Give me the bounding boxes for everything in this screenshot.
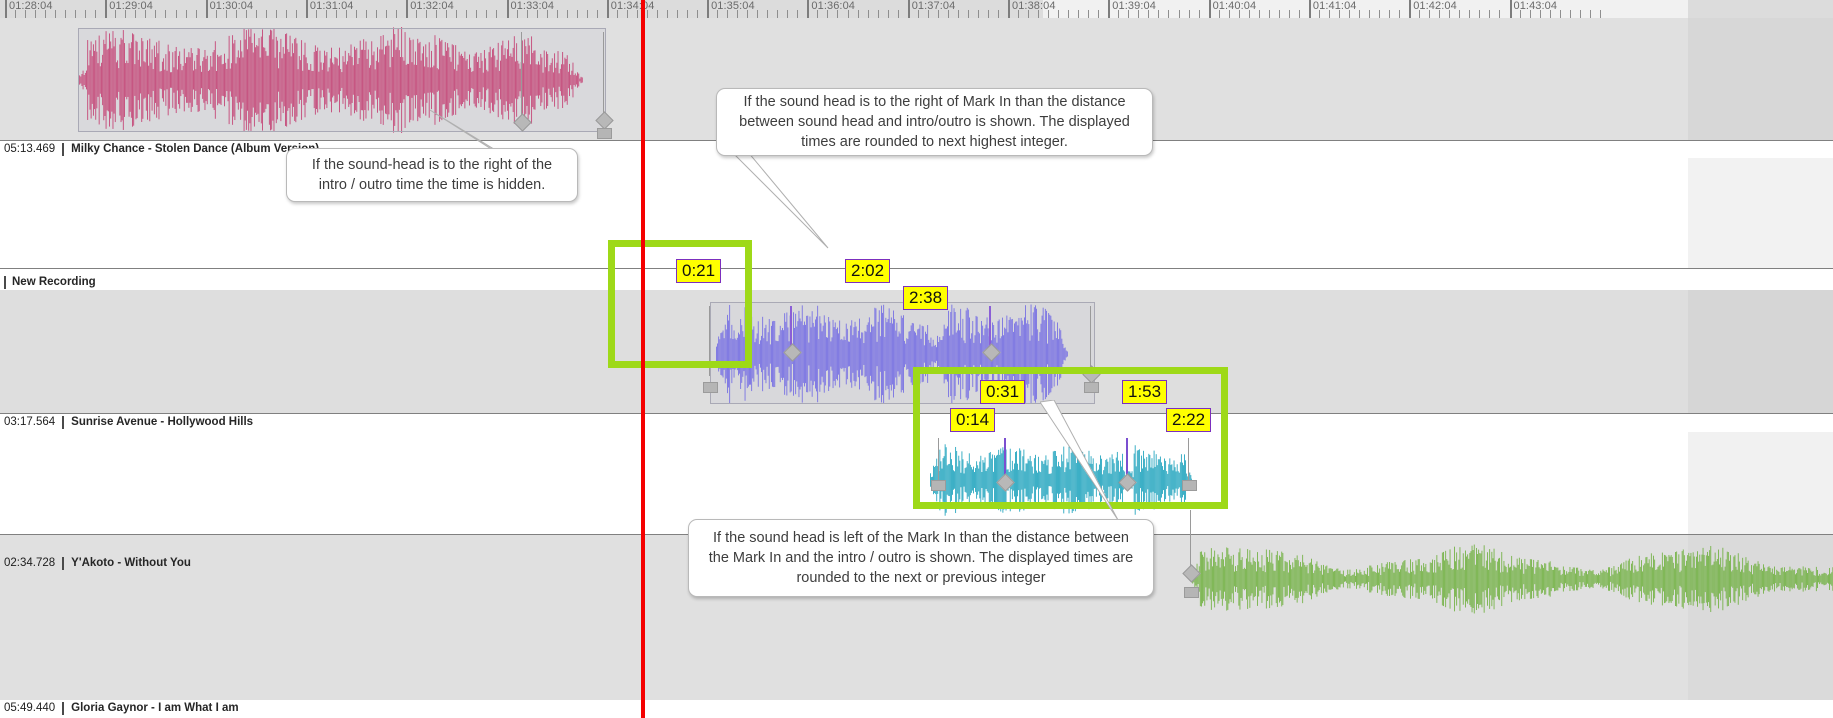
ruler-tick-minor bbox=[155, 10, 156, 18]
ruler-label: 01:43:04 bbox=[1514, 0, 1558, 12]
ruler-tick-major bbox=[707, 0, 709, 18]
timeline-ruler[interactable]: 01:28:0401:29:0401:30:0401:31:0401:32:04… bbox=[0, 0, 1833, 19]
ruler-tick-minor bbox=[1399, 10, 1400, 18]
ruler-tick-minor bbox=[1560, 10, 1561, 18]
ruler-label: 01:40:04 bbox=[1213, 0, 1257, 12]
time-badge-2-02[interactable]: 2:02 bbox=[845, 259, 890, 283]
time-badge-0-14[interactable]: 0:14 bbox=[950, 408, 995, 432]
ruler-tick-major bbox=[1209, 0, 1211, 18]
ruler-tick-major bbox=[206, 0, 208, 18]
ruler-tick-minor bbox=[1088, 10, 1089, 18]
ruler-tick-minor bbox=[767, 10, 768, 18]
ruler-tick-minor bbox=[787, 10, 788, 18]
outro-handle-stem-track1 bbox=[603, 32, 604, 120]
playhead[interactable] bbox=[641, 0, 645, 718]
ruler-tick-minor bbox=[587, 10, 588, 18]
ruler-tick-minor bbox=[797, 10, 798, 18]
ruler-tick-minor bbox=[276, 10, 277, 18]
track5-name: Gloria Gaynor - I am What I am bbox=[71, 702, 238, 714]
ruler-tick-minor bbox=[888, 10, 889, 18]
track4-right-shade bbox=[1688, 432, 1833, 534]
ruler-tick-minor bbox=[1158, 10, 1159, 18]
ruler-tick-minor bbox=[1469, 10, 1470, 18]
callout-pointer-2 bbox=[700, 140, 830, 250]
ruler-label: 01:33:04 bbox=[511, 0, 555, 12]
separator-2 bbox=[0, 268, 1833, 269]
ruler-tick-minor bbox=[777, 10, 778, 18]
ruler-tick-minor bbox=[356, 10, 357, 18]
ruler-tick-minor bbox=[1289, 10, 1290, 18]
ruler-tick-minor bbox=[1168, 10, 1169, 18]
ruler-tick-major bbox=[406, 0, 408, 18]
ruler-tick-minor bbox=[386, 10, 387, 18]
ruler-tick-major bbox=[1108, 0, 1110, 18]
track5-label-divider bbox=[62, 702, 64, 715]
ruler-tick-minor bbox=[1259, 10, 1260, 18]
ruler-tick-major bbox=[105, 0, 107, 18]
track-label-sunrise-avenue[interactable]: 03:17.564 Sunrise Avenue - Hollywood Hil… bbox=[4, 414, 253, 430]
track1-duration: 05:13.469 bbox=[4, 143, 62, 155]
ruler-tick-major bbox=[1309, 0, 1311, 18]
ruler-label: 01:34:04 bbox=[611, 0, 655, 12]
ruler-tick-minor bbox=[1189, 10, 1190, 18]
ruler-tick-minor bbox=[456, 10, 457, 18]
ruler-tick-major bbox=[807, 0, 809, 18]
ruler-tick-minor bbox=[1580, 10, 1581, 18]
ruler-tick-minor bbox=[376, 10, 377, 18]
ruler-tick-minor bbox=[466, 10, 467, 18]
track-new-recording[interactable] bbox=[0, 158, 1833, 268]
ruler-tick-minor bbox=[165, 10, 166, 18]
ruler-tick-minor bbox=[1389, 10, 1390, 18]
ruler-tick-major bbox=[908, 0, 910, 18]
ruler-tick-minor bbox=[1279, 10, 1280, 18]
ruler-tick-major bbox=[507, 0, 509, 18]
track2-label-divider bbox=[4, 276, 6, 289]
track1-name: Milky Chance - Stolen Dance (Album Versi… bbox=[71, 143, 319, 155]
time-badge-0-31[interactable]: 0:31 bbox=[980, 380, 1025, 404]
ruler-label: 01:38:04 bbox=[1012, 0, 1056, 12]
ruler-tick-minor bbox=[1299, 10, 1300, 18]
track2-right-shade bbox=[1688, 158, 1833, 268]
ruler-tick-minor bbox=[868, 10, 869, 18]
ruler-tick-minor bbox=[1379, 10, 1380, 18]
ruler-tick-minor bbox=[1570, 10, 1571, 18]
ruler-label: 01:35:04 bbox=[711, 0, 755, 12]
ruler-label: 01:28:04 bbox=[9, 0, 53, 12]
ruler-tick-minor bbox=[677, 10, 678, 18]
ruler-tick-minor bbox=[1068, 10, 1069, 18]
ruler-tick-minor bbox=[988, 10, 989, 18]
track-label-milky-chance[interactable]: 05:13.469 Milky Chance - Stolen Dance (A… bbox=[4, 141, 319, 157]
ruler-tick-minor bbox=[1098, 10, 1099, 18]
ruler-tick-minor bbox=[186, 10, 187, 18]
track-label-yakoto[interactable]: 02:34.728 Y'Akoto - Without You bbox=[4, 555, 191, 571]
ruler-tick-major bbox=[1510, 0, 1512, 18]
ruler-label: 01:29:04 bbox=[109, 0, 153, 12]
start-marker-track3[interactable] bbox=[703, 382, 718, 393]
ruler-tick-minor bbox=[85, 10, 86, 18]
track-label-new-recording[interactable]: New Recording bbox=[4, 274, 96, 290]
ruler-tick-minor bbox=[1499, 10, 1500, 18]
callout-soundhead-right-of-markin: If the sound head is to the right of Mar… bbox=[716, 88, 1153, 156]
ruler-tick-minor bbox=[296, 10, 297, 18]
callout-intro-outro-hidden: If the sound-head is to the right of the… bbox=[286, 148, 578, 202]
ruler-tick-minor bbox=[1479, 10, 1480, 18]
intro-handle-stem-track1 bbox=[521, 32, 522, 120]
ruler-tick-minor bbox=[878, 10, 879, 18]
callout-pointer-3 bbox=[1040, 400, 1200, 522]
ruler-tick-minor bbox=[1058, 10, 1059, 18]
track-label-gloria-gaynor[interactable]: 05:49.440 Gloria Gaynor - I am What I am bbox=[4, 700, 239, 716]
ruler-tick-minor bbox=[1179, 10, 1180, 18]
ruler-tick-minor bbox=[958, 10, 959, 18]
ruler-tick-minor bbox=[898, 10, 899, 18]
track4-name: Y'Akoto - Without You bbox=[71, 557, 191, 569]
ruler-tick-minor bbox=[597, 10, 598, 18]
ruler-label: 01:42:04 bbox=[1413, 0, 1457, 12]
track3-label-divider bbox=[62, 416, 64, 429]
ruler-shade-right bbox=[1688, 0, 1833, 18]
ruler-label: 01:41:04 bbox=[1313, 0, 1357, 12]
ruler-tick-minor bbox=[196, 10, 197, 18]
track3-duration: 03:17.564 bbox=[4, 416, 62, 428]
ruler-tick-minor bbox=[65, 10, 66, 18]
track1-right-shade bbox=[1688, 18, 1833, 140]
callout-soundhead-left-of-markin: If the sound head is left of the Mark In… bbox=[688, 519, 1154, 597]
ruler-tick-minor bbox=[687, 10, 688, 18]
time-badge-0-21[interactable]: 0:21 bbox=[676, 259, 721, 283]
ruler-tick-minor bbox=[266, 10, 267, 18]
ruler-label: 01:36:04 bbox=[811, 0, 855, 12]
track3-right-shade bbox=[1688, 290, 1833, 413]
ruler-tick-minor bbox=[858, 10, 859, 18]
ruler-label: 01:30:04 bbox=[210, 0, 254, 12]
ruler-tick-major bbox=[607, 0, 609, 18]
end-marker-track1[interactable] bbox=[597, 128, 612, 139]
ruler-tick-minor bbox=[968, 10, 969, 18]
ruler-tick-minor bbox=[1269, 10, 1270, 18]
track4-label-divider bbox=[62, 557, 64, 570]
ruler-tick-minor bbox=[757, 10, 758, 18]
ruler-tick-minor bbox=[1600, 10, 1601, 18]
track4-duration: 02:34.728 bbox=[4, 557, 62, 569]
ruler-tick-major bbox=[306, 0, 308, 18]
track1-label-divider bbox=[62, 143, 64, 156]
ruler-tick-minor bbox=[55, 10, 56, 18]
track2-lane bbox=[0, 158, 1833, 268]
ruler-tick-minor bbox=[396, 10, 397, 18]
ruler-tick-minor bbox=[366, 10, 367, 18]
ruler-tick-minor bbox=[1369, 10, 1370, 18]
ruler-tick-minor bbox=[697, 10, 698, 18]
track2-name: New Recording bbox=[12, 276, 96, 288]
ruler-tick-major bbox=[1409, 0, 1411, 18]
ruler-tick-minor bbox=[1199, 10, 1200, 18]
ruler-tick-minor bbox=[176, 10, 177, 18]
ruler-label: 01:32:04 bbox=[410, 0, 454, 12]
ruler-tick-minor bbox=[1459, 10, 1460, 18]
ruler-tick-minor bbox=[998, 10, 999, 18]
ruler-tick-minor bbox=[256, 10, 257, 18]
ruler-tick-minor bbox=[496, 10, 497, 18]
time-badge-2-38[interactable]: 2:38 bbox=[903, 286, 948, 310]
ruler-tick-minor bbox=[75, 10, 76, 18]
ruler-tick-minor bbox=[667, 10, 668, 18]
start-marker-track5[interactable] bbox=[1184, 587, 1199, 598]
ruler-tick-minor bbox=[476, 10, 477, 18]
ruler-tick-minor bbox=[1359, 10, 1360, 18]
ruler-tick-minor bbox=[577, 10, 578, 18]
ruler-tick-major bbox=[1008, 0, 1010, 18]
ruler-tick-minor bbox=[1590, 10, 1591, 18]
track3-name: Sunrise Avenue - Hollywood Hills bbox=[71, 416, 253, 428]
track5-duration: 05:49.440 bbox=[4, 702, 62, 714]
ruler-tick-minor bbox=[657, 10, 658, 18]
ruler-tick-minor bbox=[567, 10, 568, 18]
ruler-label: 01:31:04 bbox=[310, 0, 354, 12]
waveform-gloria-gaynor[interactable] bbox=[1190, 543, 1833, 615]
ruler-tick-minor bbox=[486, 10, 487, 18]
ruler-tick-minor bbox=[978, 10, 979, 18]
ruler-tick-minor bbox=[286, 10, 287, 18]
ruler-tick-major bbox=[5, 0, 7, 18]
ruler-tick-minor bbox=[1489, 10, 1490, 18]
ruler-tick-minor bbox=[557, 10, 558, 18]
ruler-label: 01:37:04 bbox=[912, 0, 956, 12]
ruler-tick-minor bbox=[95, 10, 96, 18]
ruler-label: 01:39:04 bbox=[1112, 0, 1156, 12]
ruler-tick-minor bbox=[1078, 10, 1079, 18]
